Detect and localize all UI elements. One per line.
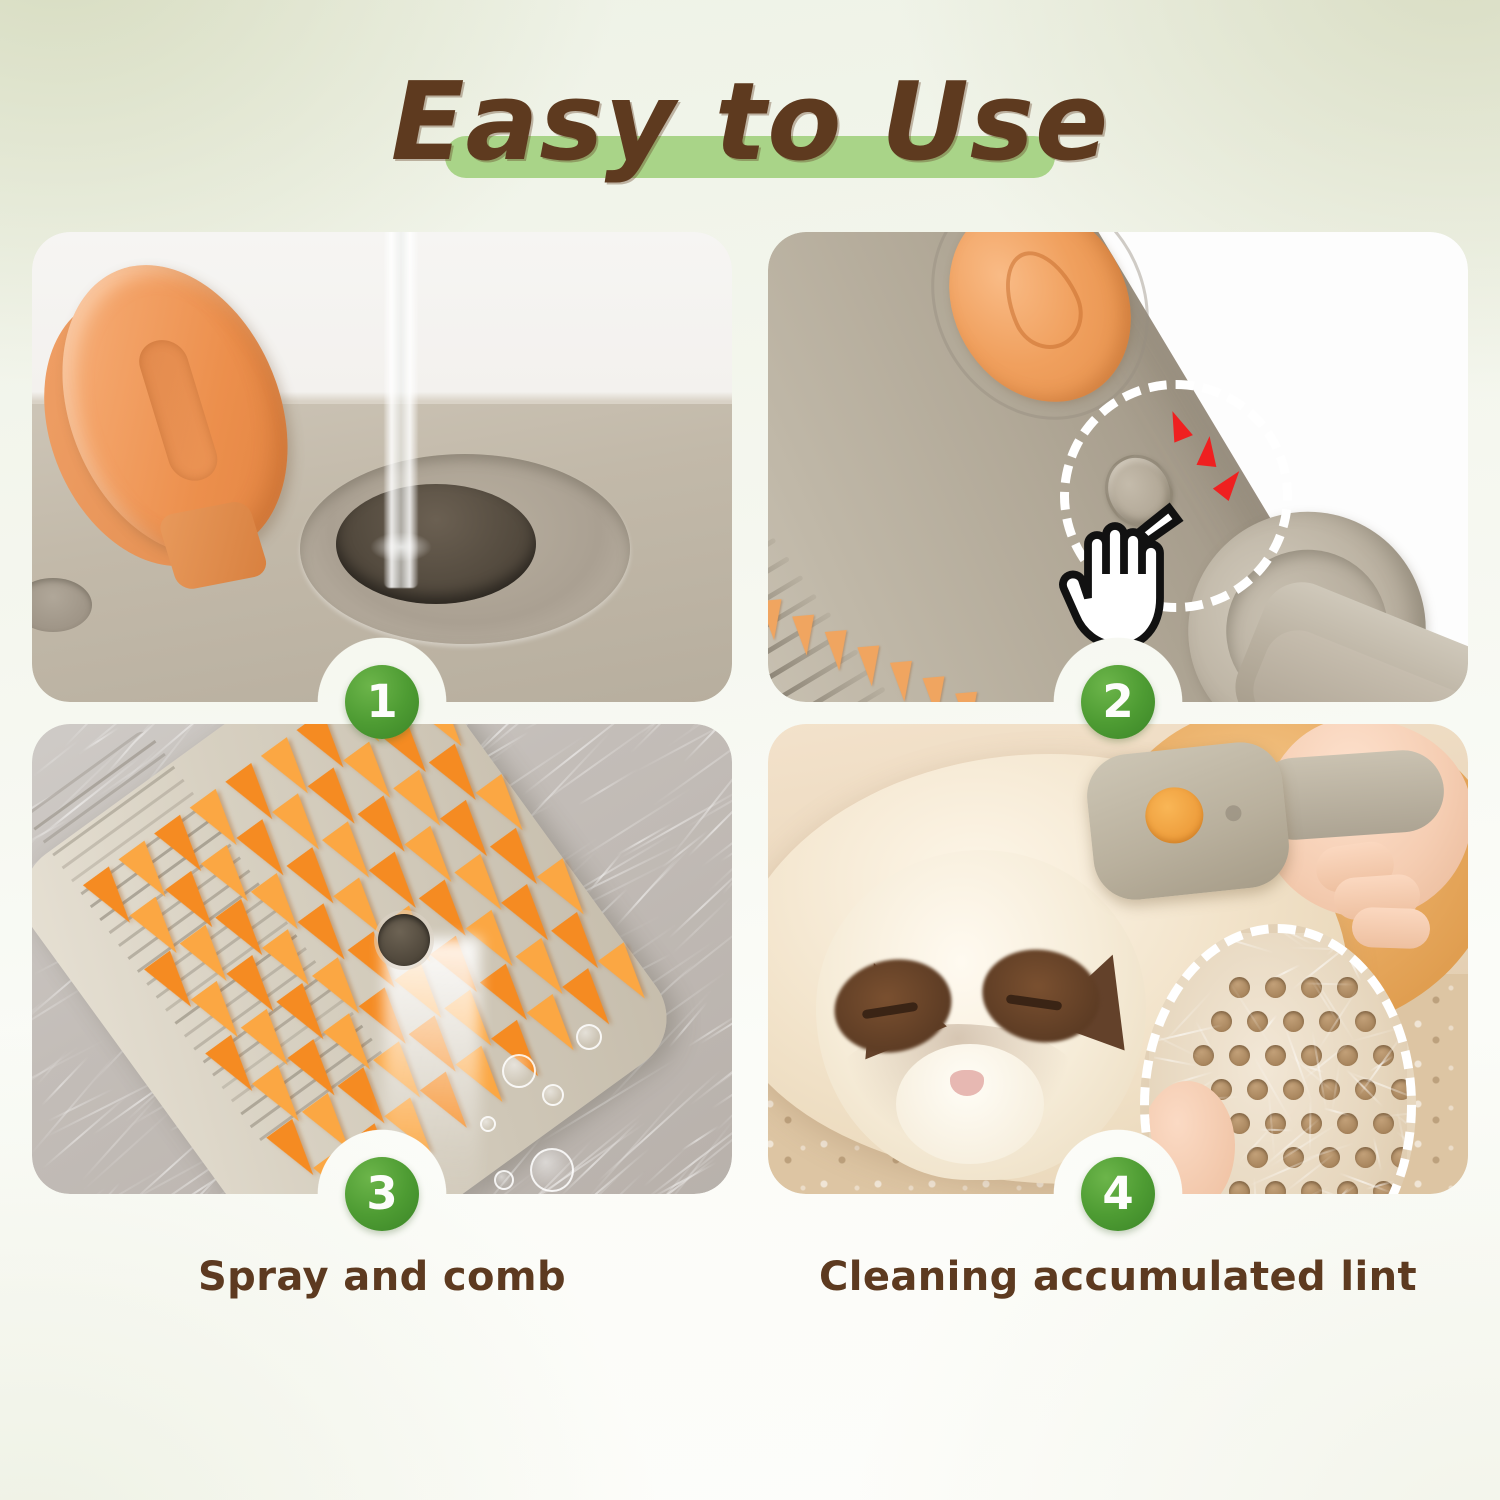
lint-hole — [1211, 1011, 1232, 1032]
step-1-illustration — [32, 232, 732, 702]
lint-hole — [1229, 1045, 1250, 1066]
bristle-pin — [792, 615, 817, 657]
lint-hole — [1337, 977, 1358, 998]
bristle-pin — [890, 661, 915, 702]
cat-muzzle — [896, 1044, 1044, 1164]
step-4-photo — [768, 724, 1468, 1194]
lint-hole — [1355, 1147, 1376, 1168]
bubble-icon — [502, 1054, 536, 1088]
bristle-pin — [857, 645, 882, 687]
fur-stroke — [32, 1193, 71, 1194]
page-title: Easy to Use — [391, 69, 1110, 177]
lint-hole — [1355, 1011, 1376, 1032]
bubble-icon — [542, 1084, 564, 1106]
step-badge-1: 1 — [345, 665, 419, 739]
step-2-photo — [768, 232, 1468, 702]
step-caption-3: Spray and comb — [32, 1254, 732, 1300]
step-card-4: 4 Cleaning accumulated lint — [768, 724, 1468, 1194]
bristle-pin — [955, 692, 980, 702]
lint-hole — [1229, 1181, 1250, 1194]
lint-hole — [1247, 1079, 1268, 1100]
fur-stroke — [577, 768, 638, 806]
fur-stroke — [32, 724, 40, 728]
lint-fuzz — [1323, 1107, 1351, 1116]
bubble-icon — [480, 1116, 496, 1132]
step-3-photo — [32, 724, 732, 1194]
bristle-pin — [768, 599, 785, 641]
step-badge-2: 2 — [1081, 665, 1155, 739]
lint-fuzz — [1145, 1024, 1223, 1044]
lint-hole — [1265, 1181, 1286, 1194]
step-number-2: 2 — [1102, 679, 1133, 724]
fur-stroke — [33, 737, 82, 776]
lint-fuzz — [1147, 1055, 1198, 1067]
step-3-illustration — [32, 724, 732, 1194]
bristle-pin — [923, 676, 948, 702]
steps-grid: 1 Add water — [32, 232, 1468, 1194]
lint-fuzz — [1393, 1112, 1416, 1139]
step-card-3: 3 Spray and comb — [32, 724, 732, 1194]
lint-fuzz — [1247, 924, 1315, 945]
fur-stroke — [32, 1185, 108, 1194]
bubble-icon — [530, 1148, 574, 1192]
lint-hole — [1265, 1045, 1286, 1066]
step-2-illustration — [768, 232, 1468, 702]
red-arrow — [1196, 435, 1219, 467]
page-header: Easy to Use — [0, 58, 1500, 188]
lint-hole — [1283, 1079, 1304, 1100]
step-caption-4: Cleaning accumulated lint — [768, 1254, 1468, 1300]
device-indicator-dot — [1225, 804, 1243, 822]
fur-stroke — [651, 1162, 718, 1194]
lint-fuzz — [1253, 1177, 1257, 1194]
bristle-pin — [825, 630, 850, 672]
bubble-icon — [494, 1170, 514, 1190]
step-4-illustration — [768, 724, 1468, 1194]
fur-stroke — [80, 1089, 164, 1183]
step-number-1: 1 — [366, 679, 397, 724]
mist-spray-icon — [384, 938, 480, 1194]
fill-hole-icon — [336, 484, 536, 604]
lint-hole — [1265, 977, 1286, 998]
step-badge-4: 4 — [1081, 1157, 1155, 1231]
step-number-4: 4 — [1102, 1171, 1133, 1216]
fur-stroke — [725, 819, 732, 908]
lint-fuzz — [1272, 964, 1301, 980]
comb-tooth — [768, 538, 776, 583]
step-card-2: 2 Press switch — [768, 232, 1468, 702]
lint-hole — [1337, 1113, 1358, 1134]
finger — [1351, 907, 1430, 950]
step-badge-3: 3 — [345, 1157, 419, 1231]
fur-stroke — [522, 724, 586, 731]
hand-cursor-icon — [1046, 496, 1196, 669]
device-power-button[interactable] — [1143, 785, 1207, 847]
brush-device-icon — [1083, 738, 1293, 904]
water-stream-icon — [384, 232, 418, 588]
step-1-photo — [32, 232, 732, 702]
fur-stroke — [41, 1056, 89, 1107]
steam-nozzle-icon — [378, 914, 430, 966]
step-number-3: 3 — [366, 1171, 397, 1216]
bubble-icon — [576, 1024, 602, 1050]
step-card-1: 1 Add water — [32, 232, 732, 702]
